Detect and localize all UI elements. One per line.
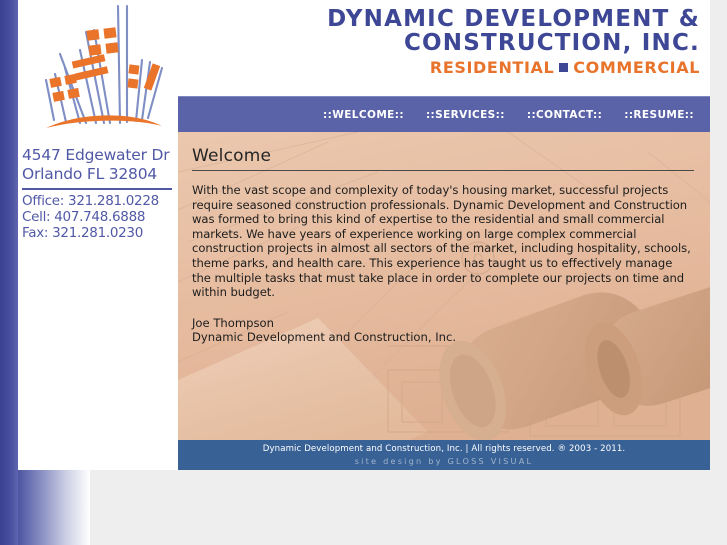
page-background-grey — [90, 470, 727, 545]
nav-resume[interactable]: ::RESUME:: — [624, 109, 694, 121]
signature-block: Joe Thompson Dynamic Development and Con… — [192, 316, 694, 345]
square-bullet-icon — [559, 63, 568, 72]
page-title: Welcome — [192, 146, 694, 166]
welcome-paragraph: With the vast scope and complexity of to… — [192, 183, 692, 300]
left-blue-edge-bar — [0, 0, 18, 545]
brand-wordmark: DYNAMIC DEVELOPMENT & CONSTRUCTION, INC.… — [300, 8, 700, 94]
content-panel: Welcome With the vast scope and complexi… — [178, 132, 710, 440]
nav-contact[interactable]: ::CONTACT:: — [527, 109, 602, 121]
title-divider — [192, 170, 694, 171]
brand-tagline: RESIDENTIALCOMMERCIAL — [300, 58, 700, 78]
cell-phone: Cell: 407.748.6888 — [22, 209, 178, 225]
signature-name: Joe Thompson — [192, 316, 694, 331]
cityscape-logo — [28, 2, 178, 138]
nav-welcome[interactable]: ::WELCOME:: — [323, 109, 404, 121]
tagline-commercial: COMMERCIAL — [573, 58, 700, 77]
fax-number: Fax: 321.281.0230 — [22, 225, 178, 241]
left-blue-fade-strip — [18, 470, 90, 545]
signature-company: Dynamic Development and Construction, In… — [192, 330, 694, 345]
office-phone: Office: 321.281.0228 — [22, 193, 178, 209]
contact-divider — [22, 188, 172, 190]
nav-list: ::WELCOME:: ::SERVICES:: ::CONTACT:: ::R… — [323, 97, 694, 133]
tagline-residential: RESIDENTIAL — [430, 58, 554, 77]
main-navigation: ::WELCOME:: ::SERVICES:: ::CONTACT:: ::R… — [178, 96, 710, 133]
address-line-1: 4547 Edgewater Dr — [22, 146, 178, 165]
nav-services[interactable]: ::SERVICES:: — [426, 109, 505, 121]
page-background-grey-right — [710, 0, 727, 545]
design-credit-link[interactable]: site design by GLOSS VISUAL — [178, 455, 710, 467]
copyright-text: Dynamic Development and Construction, In… — [178, 440, 710, 455]
content-inner: Welcome With the vast scope and complexi… — [178, 132, 710, 440]
address-line-2: Orlando FL 32804 — [22, 165, 178, 184]
wordmark-line-2: CONSTRUCTION, INC. — [300, 32, 700, 56]
contact-block: 4547 Edgewater Dr Orlando FL 32804 Offic… — [22, 146, 178, 241]
site-footer: Dynamic Development and Construction, In… — [178, 440, 710, 470]
wordmark-line-1: DYNAMIC DEVELOPMENT & — [300, 8, 700, 32]
sidebar: 4547 Edgewater Dr Orlando FL 32804 Offic… — [18, 0, 178, 470]
